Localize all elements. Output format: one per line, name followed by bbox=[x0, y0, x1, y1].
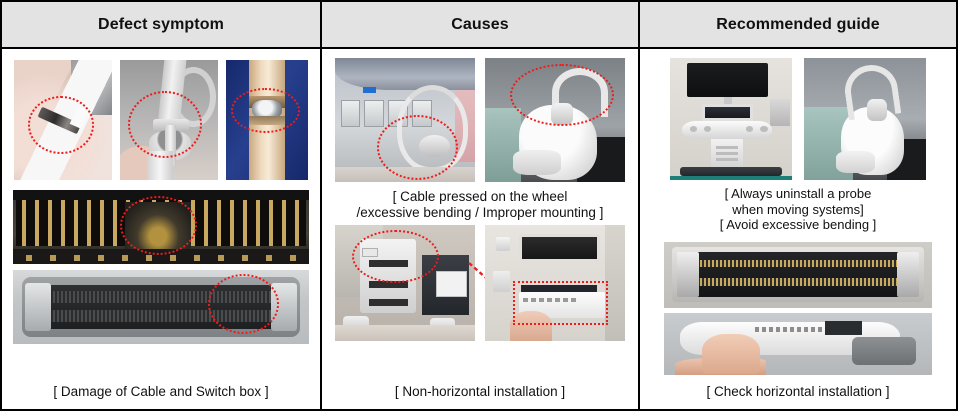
causes-photo-row-top bbox=[335, 58, 625, 182]
photo-connector-inserted-at-angle bbox=[485, 225, 625, 341]
header-label-defect-symptom: Defect symptom bbox=[98, 16, 224, 34]
photo-connector-bent-pins bbox=[13, 190, 309, 264]
caption-check-horizontal-installation: [ Check horizontal installation ] bbox=[640, 384, 956, 400]
photo-probe-held-correctly-gloved-hand bbox=[804, 58, 926, 180]
caption-uninstall-probe-line2: when moving systems] bbox=[640, 202, 956, 218]
cell-recommended-guide: [ Always uninstall a probe when moving s… bbox=[638, 49, 956, 409]
comparison-table: Defect symptom Causes Recommended guide bbox=[0, 0, 958, 411]
guide-photo-row-top bbox=[670, 58, 926, 180]
table-header-row: Defect symptom Causes Recommended guide bbox=[2, 2, 956, 49]
photo-cable-sheath-split-exposed-core bbox=[226, 60, 308, 180]
photo-probe-strain-relief-damage bbox=[120, 60, 218, 180]
defect-photo-row-top bbox=[14, 60, 308, 180]
cell-defect-symptom: [ Damage of Cable and Switch box ] bbox=[2, 49, 320, 409]
photo-clean-connector-port bbox=[664, 242, 932, 308]
photo-probe-cable-excessively-bent bbox=[485, 58, 625, 182]
header-cell-defect-symptom: Defect symptom bbox=[2, 2, 320, 47]
photo-ultrasound-system-without-probe bbox=[670, 58, 792, 180]
causes-photo-row-bottom bbox=[335, 225, 625, 341]
caption-avoid-excessive-bending: [ Avoid excessive bending ] bbox=[640, 217, 956, 233]
caption-uninstall-probe-line1: [ Always uninstall a probe bbox=[640, 186, 956, 202]
header-label-recommended-guide: Recommended guide bbox=[716, 16, 880, 34]
photo-cracked-probe-cable-closeup bbox=[14, 60, 112, 180]
caption-cable-pressed-line1: [ Cable pressed on the wheel bbox=[322, 189, 638, 205]
caption-non-horizontal-installation: [ Non-horizontal installation ] bbox=[322, 384, 638, 400]
caption-cable-pressed-line2: /excessive bending / Improper mounting ] bbox=[322, 205, 638, 221]
cell-causes: [ Cable pressed on the wheel /excessive … bbox=[320, 49, 638, 409]
photo-switch-box-connector-damage bbox=[13, 270, 309, 344]
header-cell-recommended-guide: Recommended guide bbox=[638, 2, 956, 47]
caption-damage-cable-switch-box: [ Damage of Cable and Switch box ] bbox=[2, 384, 320, 400]
photo-connector-inserted-horizontally bbox=[664, 313, 932, 375]
photo-cable-trapped-under-cart-wheel bbox=[335, 58, 475, 182]
header-label-causes: Causes bbox=[451, 16, 509, 34]
photo-probe-holder-non-horizontal bbox=[335, 225, 475, 341]
header-cell-causes: Causes bbox=[320, 2, 638, 47]
table-body-row: [ Damage of Cable and Switch box ] bbox=[2, 49, 956, 409]
